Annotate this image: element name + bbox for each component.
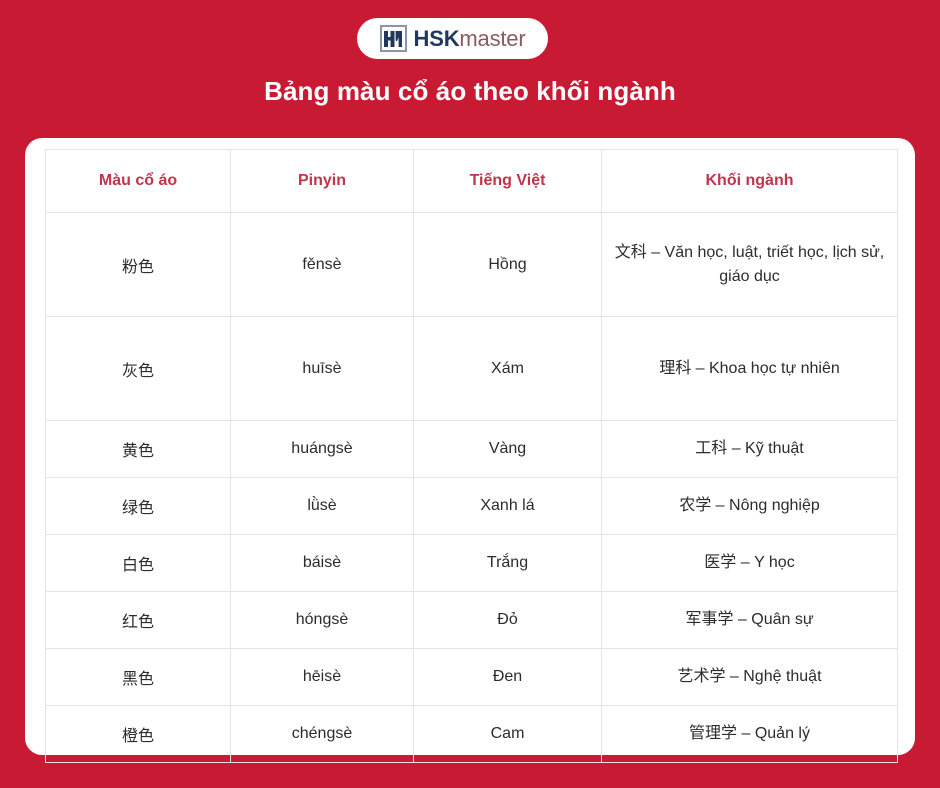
column-header-vietnamese: Tiếng Việt	[414, 150, 602, 213]
cell-vietnamese: Trắng	[414, 535, 602, 592]
cell-field: 工科 – Kỹ thuật	[602, 421, 898, 478]
cell-vietnamese: Đỏ	[414, 592, 602, 649]
cell-pinyin: báisè	[231, 535, 414, 592]
table-row: 红色 hóngsè Đỏ 军事学 – Quân sự	[46, 592, 898, 649]
cell-vietnamese: Xám	[414, 317, 602, 421]
table-row: 绿色 lǜsè Xanh lá 农学 – Nông nghiệp	[46, 478, 898, 535]
cell-color: 红色	[46, 592, 231, 649]
brand-name-primary: HSK	[414, 26, 460, 51]
cell-pinyin: huángsè	[231, 421, 414, 478]
cell-pinyin: hēisè	[231, 649, 414, 706]
page-title: Bảng màu cổ áo theo khối ngành	[0, 76, 940, 107]
cell-color: 灰色	[46, 317, 231, 421]
cell-pinyin: hóngsè	[231, 592, 414, 649]
brand-name-secondary: master	[459, 26, 525, 51]
brand-logo: HSKmaster	[357, 18, 548, 59]
cell-pinyin: chéngsè	[231, 706, 414, 763]
cell-field: 文科 – Văn học, luật, triết học, lịch sử, …	[602, 213, 898, 317]
column-header-pinyin: Pinyin	[231, 150, 414, 213]
table-row: 白色 báisè Trắng 医学 – Y học	[46, 535, 898, 592]
cell-pinyin: huīsè	[231, 317, 414, 421]
cell-color: 粉色	[46, 213, 231, 317]
table-row: 粉色 fěnsè Hồng 文科 – Văn học, luật, triết …	[46, 213, 898, 317]
table-head: Màu cổ áo Pinyin Tiếng Việt Khối ngành	[46, 150, 898, 213]
table-row: 灰色 huīsè Xám 理科 – Khoa học tự nhiên	[46, 317, 898, 421]
cell-vietnamese: Xanh lá	[414, 478, 602, 535]
cell-color: 橙色	[46, 706, 231, 763]
cell-color: 黑色	[46, 649, 231, 706]
cell-field: 农学 – Nông nghiệp	[602, 478, 898, 535]
cell-vietnamese: Đen	[414, 649, 602, 706]
cell-vietnamese: Vàng	[414, 421, 602, 478]
cell-field: 管理学 – Quản lý	[602, 706, 898, 763]
cell-vietnamese: Cam	[414, 706, 602, 763]
cell-pinyin: fěnsè	[231, 213, 414, 317]
table-row: 橙色 chéngsè Cam 管理学 – Quản lý	[46, 706, 898, 763]
color-collar-table: Màu cổ áo Pinyin Tiếng Việt Khối ngành 粉…	[45, 149, 898, 763]
column-header-field: Khối ngành	[602, 150, 898, 213]
cell-color: 白色	[46, 535, 231, 592]
cell-field: 艺术学 – Nghệ thuật	[602, 649, 898, 706]
cell-field: 理科 – Khoa học tự nhiên	[602, 317, 898, 421]
cell-color: 绿色	[46, 478, 231, 535]
infographic-page: HSKmaster Bảng màu cổ áo theo khối ngành…	[0, 0, 940, 788]
cell-field: 军事学 – Quân sự	[602, 592, 898, 649]
brand-wordmark: HSKmaster	[414, 28, 526, 50]
cell-vietnamese: Hồng	[414, 213, 602, 317]
table-row: 黑色 hēisè Đen 艺术学 – Nghệ thuật	[46, 649, 898, 706]
cell-pinyin: lǜsè	[231, 478, 414, 535]
table-row: 黄色 huángsè Vàng 工科 – Kỹ thuật	[46, 421, 898, 478]
table-body: 粉色 fěnsè Hồng 文科 – Văn học, luật, triết …	[46, 213, 898, 763]
table-card: Màu cổ áo Pinyin Tiếng Việt Khối ngành 粉…	[25, 138, 915, 755]
column-header-color: Màu cổ áo	[46, 150, 231, 213]
table-header-row: Màu cổ áo Pinyin Tiếng Việt Khối ngành	[46, 150, 898, 213]
cell-color: 黄色	[46, 421, 231, 478]
cell-field: 医学 – Y học	[602, 535, 898, 592]
hm-monogram-icon	[380, 25, 407, 52]
